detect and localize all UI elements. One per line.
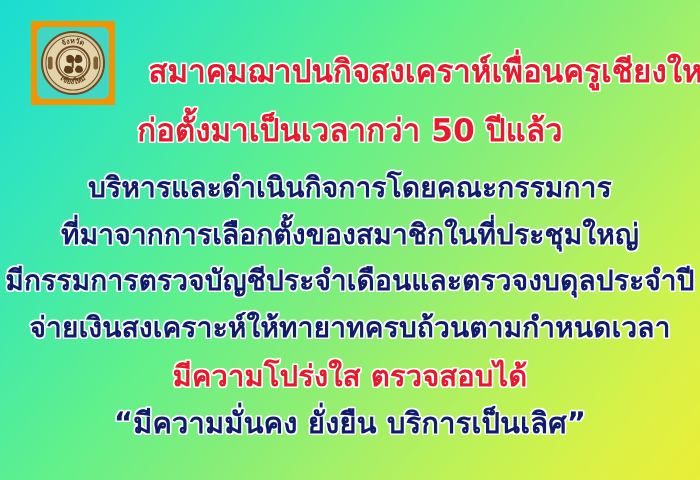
body-line-2: ที่มาจากการเลือกตั้งของสมาชิกในที่ประชุม… <box>0 213 700 257</box>
association-banner: จังหวัด เชียงใหม่ สมาคมฌาปนกิจสงเคราห์เพ… <box>0 0 700 480</box>
body-line-1: บริหารและดำเนินกิจการโดยคณะกรรมการ <box>0 166 700 210</box>
highlight-line: มีความโปร่งใส ตรวจสอบได้ <box>0 353 700 399</box>
body-line-3: มีกรรมการตรวจบัญชีประจำเดือนและตรวจงบดุล… <box>0 259 700 303</box>
banner-text-block: สมาคมฌาปนกิจสงเคราห์เพื่อนครูเชียงใหม่ ก… <box>0 0 700 480</box>
organization-title: สมาคมฌาปนกิจสงเคราห์เพื่อนครูเชียงใหม่ <box>0 46 700 96</box>
slogan-line: “มีความมั่นคง ยั่งยืน บริการเป็นเลิศ” <box>0 400 700 446</box>
body-line-4: จ่ายเงินสงเคราะห์ให้ทายาทครบถ้วนตามกำหนด… <box>0 306 700 350</box>
established-subtitle: ก่อตั้งมาเป็นเวลากว่า 50 ปีแล้ว <box>0 105 700 155</box>
